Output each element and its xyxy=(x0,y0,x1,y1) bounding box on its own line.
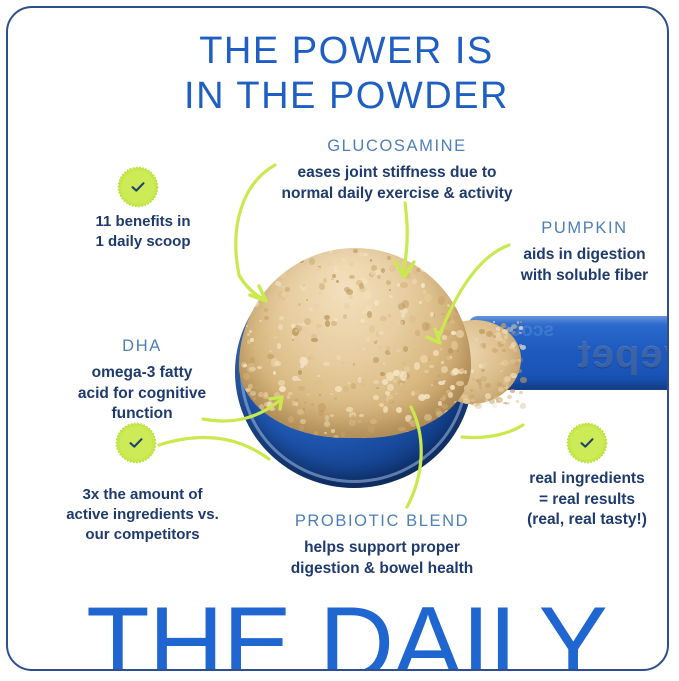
powder-grain xyxy=(342,362,346,365)
powder-grain xyxy=(292,335,294,337)
powder-grain xyxy=(387,256,390,260)
powder-grain xyxy=(508,402,511,404)
powder-grain xyxy=(464,370,467,374)
callout-dha: DHA omega-3 fatty acid for cognitive fun… xyxy=(37,337,247,425)
powder-grain xyxy=(282,250,290,258)
powder-grain xyxy=(464,385,470,392)
powder-grain xyxy=(496,397,503,403)
powder-grain xyxy=(420,355,428,363)
powder-grain xyxy=(424,370,429,374)
powder-grain xyxy=(282,297,286,301)
powder-grain xyxy=(361,384,366,388)
callout-pumpkin-body: aids in digestion with soluble fiber xyxy=(487,245,668,286)
powder-grain xyxy=(447,304,450,307)
powder-grain xyxy=(468,429,471,431)
powder-grain xyxy=(510,389,515,393)
checkmark-icon xyxy=(120,169,156,205)
powder-grain xyxy=(504,335,508,338)
powder-grain xyxy=(334,318,338,322)
powder-grain xyxy=(498,387,505,393)
powder-grain xyxy=(346,407,352,412)
powder-grain xyxy=(254,386,259,389)
powder-grain xyxy=(306,299,308,302)
powder-grain xyxy=(294,325,302,332)
powder-grain xyxy=(386,346,391,349)
powder-grain xyxy=(299,257,304,263)
powder-grain xyxy=(380,372,385,377)
powder-grain xyxy=(377,275,381,279)
powder-grain xyxy=(479,329,485,334)
powder-grain xyxy=(512,331,516,334)
powder-grain xyxy=(282,286,285,289)
powder-grain xyxy=(317,267,321,271)
powder-grain xyxy=(292,339,295,341)
powder-grain xyxy=(480,343,486,348)
powder-grain xyxy=(438,375,442,378)
powder-grain xyxy=(274,392,280,398)
powder-grain xyxy=(406,415,412,420)
powder-grain xyxy=(314,380,322,385)
powder-grain xyxy=(421,251,429,258)
powder-grain xyxy=(341,432,345,437)
powder-grain xyxy=(268,394,271,396)
powder-grain xyxy=(512,376,515,379)
powder-grain xyxy=(255,279,259,282)
powder-grain xyxy=(399,321,402,325)
powder-grain xyxy=(285,287,290,292)
powder-grain xyxy=(331,278,334,280)
powder-grain xyxy=(367,311,372,318)
powder-grain xyxy=(496,347,499,349)
powder-grain xyxy=(329,250,333,254)
powder-grain xyxy=(479,386,483,389)
powder-grain xyxy=(368,425,375,434)
powder-grain xyxy=(420,267,427,273)
powder-grain xyxy=(453,294,460,303)
powder-grain xyxy=(325,415,330,421)
powder-mound xyxy=(239,248,471,438)
powder-grain xyxy=(300,282,307,291)
powder-grain xyxy=(420,414,423,418)
powder-grain xyxy=(278,324,283,330)
powder-grain xyxy=(330,414,335,417)
powder-grain xyxy=(469,270,471,273)
powder-grain xyxy=(469,414,471,416)
powder-grain xyxy=(269,350,271,353)
powder-grain xyxy=(261,335,268,341)
callout-real-ingredients-body: real ingredients = real results (real, r… xyxy=(492,469,668,531)
check-badge-icon xyxy=(569,425,605,461)
powder-grain xyxy=(240,256,243,258)
powder-grain xyxy=(353,363,356,366)
powder-grain xyxy=(363,291,371,300)
powder-grain xyxy=(245,265,248,267)
powder-grain xyxy=(271,358,279,367)
powder-grain xyxy=(359,414,364,417)
powder-grain xyxy=(244,325,248,328)
powder-grain xyxy=(369,325,376,333)
powder-grain xyxy=(333,435,339,438)
powder-grain xyxy=(480,376,487,382)
powder-grain xyxy=(383,406,389,413)
powder-grain xyxy=(507,395,512,399)
powder-grain xyxy=(458,264,461,267)
powder-grain xyxy=(247,333,250,337)
powder-grain xyxy=(388,399,394,404)
powder-grain xyxy=(351,383,356,389)
powder-grain xyxy=(259,320,262,322)
powder-grain xyxy=(336,355,341,361)
callout-glucosamine: GLUCOSAMINE eases joint stiffness due to… xyxy=(237,137,557,204)
powder-grain xyxy=(298,386,305,391)
powder-grain xyxy=(457,283,462,289)
powder-grain xyxy=(296,433,303,438)
powder-grain xyxy=(439,395,443,398)
powder-grain xyxy=(287,395,291,399)
powder-grain xyxy=(317,375,321,377)
powder-grain xyxy=(353,249,358,253)
powder-grain xyxy=(389,350,393,353)
powder-grain xyxy=(246,268,249,272)
powder-grain xyxy=(316,324,322,328)
callout-dha-body: omega-3 fatty acid for cognitive functio… xyxy=(37,363,247,425)
powder-grain xyxy=(398,303,406,310)
powder-grain xyxy=(485,399,488,402)
powder-grain xyxy=(281,292,286,297)
powder-grain xyxy=(389,265,396,273)
powder-grain xyxy=(436,411,444,417)
powder-grain xyxy=(462,323,464,325)
powder-grain xyxy=(520,403,527,409)
powder-grain xyxy=(323,362,330,366)
powder-grain xyxy=(278,256,282,260)
powder-grain xyxy=(398,427,406,432)
powder-grain xyxy=(378,331,384,335)
powder-grain xyxy=(360,319,365,323)
powder-grain xyxy=(254,257,261,261)
powder-grain xyxy=(411,262,417,268)
powder-grain xyxy=(309,258,314,265)
powder-grain xyxy=(469,314,471,317)
bottom-banner-text: THE DAILY xyxy=(7,592,668,670)
powder-grain xyxy=(428,261,433,264)
powder-grain xyxy=(248,384,252,388)
powder-grain xyxy=(441,404,449,409)
powder-grain xyxy=(437,346,444,351)
infographic-poster: THE POWER IS IN THE POWDER scoop vepet xyxy=(0,0,679,681)
powder-grain xyxy=(415,330,421,336)
powder-grain xyxy=(472,349,478,354)
powder-grain xyxy=(300,365,304,369)
powder-grain xyxy=(349,261,355,267)
powder-grain xyxy=(433,339,440,344)
powder-grain xyxy=(359,378,364,383)
powder-grain xyxy=(436,331,442,335)
powder-grain xyxy=(468,432,471,436)
powder-grain xyxy=(381,322,385,325)
powder-grain xyxy=(322,352,329,361)
powder-grain xyxy=(253,397,256,400)
callout-pumpkin-title: PUMPKIN xyxy=(487,219,668,238)
powder-grain xyxy=(279,316,284,320)
powder-grain xyxy=(486,331,493,337)
powder-grain xyxy=(250,391,256,397)
powder-grain xyxy=(373,395,379,400)
powder-grain xyxy=(478,382,483,386)
powder-grain xyxy=(369,277,374,281)
powder-grain xyxy=(279,270,286,278)
powder-grain xyxy=(480,363,487,369)
powder-grain xyxy=(446,356,451,360)
powder-grain xyxy=(347,382,351,385)
powder-grain xyxy=(264,316,269,320)
powder-grain xyxy=(259,404,264,410)
powder-grain xyxy=(370,419,377,425)
powder-grain xyxy=(453,316,458,320)
powder-grain xyxy=(250,338,254,342)
powder-grain xyxy=(303,408,306,411)
powder-grain xyxy=(336,280,339,284)
powder-grain xyxy=(438,296,445,305)
powder-grain xyxy=(370,259,373,262)
powder-grain xyxy=(376,387,379,389)
powder-grain xyxy=(314,431,318,436)
powder-grain xyxy=(259,363,264,367)
powder-grain xyxy=(359,252,363,257)
powder-grain xyxy=(272,432,276,436)
powder-grain xyxy=(264,308,268,312)
powder-grain xyxy=(450,385,455,391)
powder-grain xyxy=(357,420,362,423)
powder-grain xyxy=(448,348,453,354)
powder-grain xyxy=(424,294,432,303)
powder-grain xyxy=(286,298,288,300)
callout-benefits-body: 11 benefits in 1 daily scoop xyxy=(43,212,243,252)
powder-grain xyxy=(412,279,417,284)
powder-grain xyxy=(501,323,506,328)
powder-grain xyxy=(456,381,464,387)
powder-grain xyxy=(343,386,349,392)
powder-grain xyxy=(431,384,434,386)
powder-grain xyxy=(438,401,442,406)
powder-grain xyxy=(459,254,463,258)
powder-grain xyxy=(250,357,255,363)
powder-grain xyxy=(310,294,313,297)
powder-grain xyxy=(330,393,333,395)
powder-grain xyxy=(424,414,432,422)
powder-grain xyxy=(311,403,315,407)
powder-grain xyxy=(520,321,522,323)
powder-grain xyxy=(404,272,412,279)
powder-grain xyxy=(492,403,497,408)
powder-grain xyxy=(342,258,346,261)
powder-grain xyxy=(318,437,322,438)
powder-grain xyxy=(252,296,255,298)
powder-grain xyxy=(309,308,313,311)
powder-grain xyxy=(379,346,383,349)
powder-grain xyxy=(442,313,444,315)
powder-grain xyxy=(319,283,325,290)
powder-grain xyxy=(333,297,336,299)
powder-grain xyxy=(409,315,416,324)
powder-grain xyxy=(500,339,505,344)
powder-grain xyxy=(456,330,464,338)
poster-clip-area: THE POWER IS IN THE POWDER scoop vepet xyxy=(7,7,668,670)
powder-grain xyxy=(331,429,335,434)
powder-grain xyxy=(504,385,506,387)
callout-three-x: 3x the amount of active ingredients vs. … xyxy=(35,485,250,545)
powder-grain xyxy=(373,357,379,363)
powder-grain xyxy=(485,383,491,388)
check-badge-icon xyxy=(120,169,156,205)
powder-grain xyxy=(409,257,414,261)
powder-grain xyxy=(383,362,386,365)
powder-grain xyxy=(304,402,307,404)
powder-grain xyxy=(413,348,416,351)
powder-grain xyxy=(475,338,478,341)
powder-grain xyxy=(428,358,431,361)
powder-grain xyxy=(452,429,455,431)
powder-grain xyxy=(270,423,275,428)
powder-grain xyxy=(275,281,282,286)
powder-grain xyxy=(315,304,318,307)
powder-grain xyxy=(381,268,385,273)
powder-grain xyxy=(349,419,356,426)
powder-grain xyxy=(292,376,299,381)
powder-grain xyxy=(306,393,312,397)
powder-grain xyxy=(344,287,350,291)
powder-grain xyxy=(481,369,485,372)
powder-grain xyxy=(502,349,506,353)
powder-grain xyxy=(411,391,415,396)
powder-grain xyxy=(455,307,461,313)
powder-grain xyxy=(311,338,317,343)
powder-grain xyxy=(460,312,463,315)
powder-grain xyxy=(304,318,312,326)
powder-grain xyxy=(395,393,398,395)
powder-grain xyxy=(418,394,426,401)
powder-grain xyxy=(460,368,464,372)
powder-grain xyxy=(467,281,471,289)
callout-pumpkin: PUMPKIN aids in digestion with soluble f… xyxy=(487,219,668,286)
powder-grain xyxy=(429,365,434,369)
powder-grain xyxy=(441,366,448,373)
powder-grain xyxy=(366,367,369,369)
powder-grain xyxy=(349,295,353,298)
powder-grain xyxy=(320,369,325,372)
powder-grain xyxy=(349,347,354,352)
powder-grain xyxy=(457,350,459,352)
powder-grain xyxy=(366,337,370,342)
powder-grain xyxy=(510,359,516,364)
powder-grain xyxy=(251,426,256,431)
checkmark-icon xyxy=(118,425,154,461)
powder-grain xyxy=(299,379,301,381)
powder-grain xyxy=(344,303,350,309)
powder-grain xyxy=(345,265,349,268)
powder-grain xyxy=(304,253,306,255)
powder-grain xyxy=(277,343,281,349)
powder-grain xyxy=(422,322,430,331)
powder-grain xyxy=(318,410,325,417)
page-title: THE POWER IS IN THE POWDER xyxy=(7,29,668,119)
powder-grain xyxy=(442,335,448,340)
check-badge-icon xyxy=(118,425,154,461)
powder-grain xyxy=(389,289,391,291)
powder-grain xyxy=(299,425,305,431)
powder-grain xyxy=(278,433,283,437)
powder-grain xyxy=(462,274,467,278)
powder-grain xyxy=(318,291,322,295)
powder-grain xyxy=(403,346,408,352)
powder-grain xyxy=(463,417,467,422)
powder-grain xyxy=(392,259,394,260)
powder-grain xyxy=(451,331,456,335)
powder-grain xyxy=(325,320,330,327)
powder-grain xyxy=(319,394,321,396)
callout-dha-title: DHA xyxy=(37,337,247,356)
powder-grain xyxy=(448,392,453,398)
powder-grain xyxy=(444,410,450,417)
powder-grain xyxy=(272,436,278,438)
powder-grain xyxy=(324,421,331,427)
callout-probiotic-title: PROBIOTIC BLEND xyxy=(257,512,507,531)
powder-grain xyxy=(421,283,425,288)
powder-grain xyxy=(381,386,384,388)
powder-grain xyxy=(308,356,313,360)
powder-grain xyxy=(365,433,370,437)
powder-grain xyxy=(363,253,368,256)
powder-grain xyxy=(241,274,246,279)
powder-grain xyxy=(374,300,379,307)
powder-grain xyxy=(298,303,302,306)
powder-grain xyxy=(516,400,519,402)
powder-grain xyxy=(489,323,491,325)
powder-grain xyxy=(449,320,456,324)
powder-grain xyxy=(517,321,520,323)
powder-grain xyxy=(362,348,365,350)
callout-glucosamine-title: GLUCOSAMINE xyxy=(237,137,557,156)
powder-grain xyxy=(387,276,394,282)
powder-grain xyxy=(361,437,367,438)
powder-grain xyxy=(324,315,330,320)
powder-grain xyxy=(323,278,327,283)
powder-grain xyxy=(519,391,524,395)
powder-grain xyxy=(414,362,421,370)
powder-grain xyxy=(300,419,306,424)
powder-grain xyxy=(388,314,391,318)
powder-grain xyxy=(262,287,265,289)
callout-glucosamine-body: eases joint stiffness due to normal dail… xyxy=(237,163,557,204)
powder-grain xyxy=(243,427,249,434)
powder-grain xyxy=(446,295,452,302)
powder-grain xyxy=(500,370,503,372)
powder-grain xyxy=(337,418,342,423)
callout-three-x-body: 3x the amount of active ingredients vs. … xyxy=(35,485,250,545)
powder-grain xyxy=(370,271,376,276)
powder-grain xyxy=(382,426,384,428)
powder-grain xyxy=(400,383,404,386)
callout-benefits: 11 benefits in 1 daily scoop xyxy=(43,212,243,252)
powder-grain xyxy=(393,379,396,383)
powder-grain xyxy=(324,432,327,434)
powder-grain xyxy=(367,323,370,325)
powder-grain xyxy=(419,301,423,304)
checkmark-icon xyxy=(569,425,605,461)
powder-grain xyxy=(279,386,286,392)
powder-grain xyxy=(413,270,419,274)
powder-grain xyxy=(441,361,445,364)
